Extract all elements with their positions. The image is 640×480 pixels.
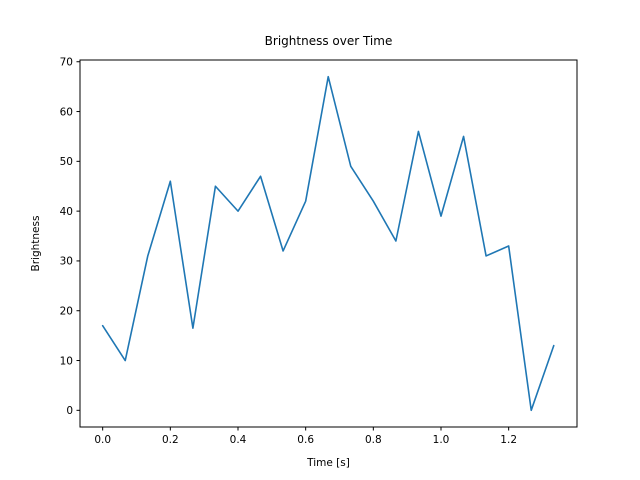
y-tick-label: 40 bbox=[60, 206, 73, 218]
y-tick-label: 10 bbox=[60, 355, 73, 367]
y-tick-label: 0 bbox=[66, 405, 73, 417]
plot-background bbox=[80, 60, 577, 427]
y-tick-group: 010203040506070 bbox=[60, 57, 80, 418]
figure-canvas: 0.00.20.40.60.81.01.2 010203040506070 Br… bbox=[0, 0, 640, 480]
y-axis-label: Brightness bbox=[30, 216, 42, 272]
y-tick-label: 30 bbox=[60, 256, 73, 268]
plot-area: 0.00.20.40.60.81.01.2 010203040506070 bbox=[60, 57, 577, 446]
y-tick-label: 50 bbox=[60, 156, 73, 168]
y-tick-label: 20 bbox=[60, 306, 73, 318]
y-tick-label: 70 bbox=[60, 57, 73, 69]
x-tick-label: 0.8 bbox=[365, 434, 382, 446]
x-tick-label: 0.6 bbox=[297, 434, 314, 446]
y-tick-label: 60 bbox=[60, 106, 73, 118]
x-axis-label: Time [s] bbox=[306, 457, 350, 469]
x-tick-label: 0.0 bbox=[94, 434, 111, 446]
x-tick-label: 1.2 bbox=[500, 434, 517, 446]
chart-title: Brightness over Time bbox=[265, 34, 393, 48]
line-chart: 0.00.20.40.60.81.01.2 010203040506070 Br… bbox=[0, 0, 640, 480]
x-tick-group: 0.00.20.40.60.81.01.2 bbox=[94, 427, 517, 446]
x-tick-label: 1.0 bbox=[433, 434, 450, 446]
x-tick-label: 0.2 bbox=[162, 434, 179, 446]
x-tick-label: 0.4 bbox=[230, 434, 247, 446]
